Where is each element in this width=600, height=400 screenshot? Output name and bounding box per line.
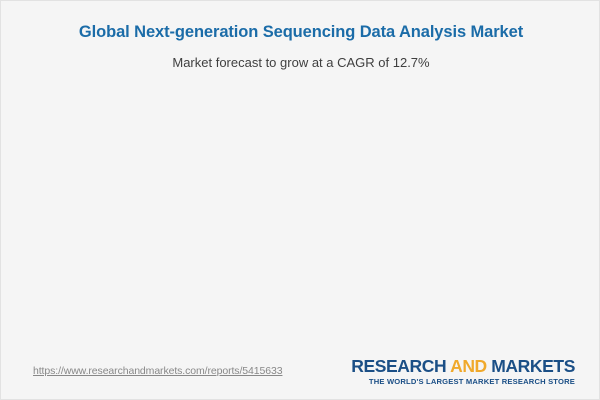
logo-word-research: RESEARCH [351,356,450,376]
logo-tagline: THE WORLD'S LARGEST MARKET RESEARCH STOR… [351,377,575,386]
report-url-link[interactable]: https://www.researchandmarkets.com/repor… [33,365,282,377]
chart-plot-area: USD 591.73 Million 2022 USD 1,540 Millio… [1,1,600,349]
logo-word-and: AND [450,356,487,376]
logo-wordmark: RESEARCH AND MARKETS [351,357,575,375]
logo-word-markets: MARKETS [487,356,575,376]
research-and-markets-logo[interactable]: RESEARCH AND MARKETS THE WORLD'S LARGEST… [351,357,575,386]
footer: https://www.researchandmarkets.com/repor… [1,347,600,399]
infographic-canvas: Global Next-generation Sequencing Data A… [0,0,600,400]
